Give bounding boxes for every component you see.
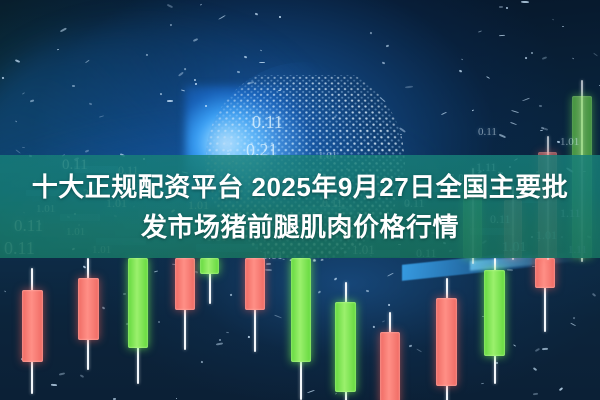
headline-line-1: 十大正规配资平台 2025年9月27日全国主要批 bbox=[32, 168, 568, 206]
number-glyph: 0.11 bbox=[478, 126, 497, 138]
headline: 十大正规配资平台 2025年9月27日全国主要批 发市场猪前腿肌肉价格行情 bbox=[0, 155, 600, 258]
number-glyph: 0.11 bbox=[252, 112, 283, 133]
number-glyph: 1.01 bbox=[560, 136, 579, 148]
banner-image: 0.111.010.211.010.111.010.111.010.111.01… bbox=[0, 0, 600, 400]
headline-line-2: 发市场猪前腿肌肉价格行情 bbox=[141, 208, 459, 246]
